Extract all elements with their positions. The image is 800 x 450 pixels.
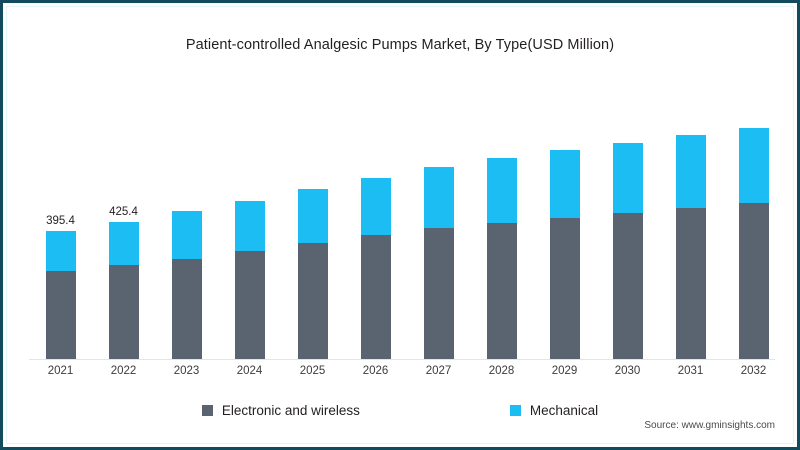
chart-title: Patient-controlled Analgesic Pumps Marke… bbox=[7, 37, 793, 53]
bar-segment-electronic-and-wireless[interactable] bbox=[487, 223, 517, 359]
source-attribution: Source: www.gminsights.com bbox=[644, 420, 775, 431]
bar-group[interactable] bbox=[596, 107, 659, 359]
legend-item[interactable]: Electronic and wireless bbox=[202, 403, 360, 418]
bar-segment-mechanical[interactable] bbox=[46, 231, 76, 271]
chart-canvas: Patient-controlled Analgesic Pumps Marke… bbox=[6, 6, 794, 444]
x-tick-label-2024: 2024 bbox=[218, 365, 281, 377]
bar-segment-mechanical[interactable] bbox=[613, 143, 643, 213]
bar-segment-mechanical[interactable] bbox=[487, 158, 517, 223]
legend-item[interactable]: Mechanical bbox=[510, 403, 598, 418]
bar-segment-electronic-and-wireless[interactable] bbox=[739, 203, 769, 359]
stacked-bar[interactable] bbox=[676, 135, 706, 359]
x-tick-label-2021: 2021 bbox=[29, 365, 92, 377]
bar-group[interactable] bbox=[155, 107, 218, 359]
plot-area: 395.4425.4 bbox=[29, 107, 785, 359]
bar-segment-mechanical[interactable] bbox=[739, 128, 769, 203]
stacked-bar[interactable] bbox=[487, 158, 517, 359]
x-tick-label-2026: 2026 bbox=[344, 365, 407, 377]
stacked-bar[interactable] bbox=[424, 167, 454, 359]
bar-value-label: 395.4 bbox=[46, 215, 75, 227]
bar-group[interactable]: 395.4 bbox=[29, 107, 92, 359]
legend-label: Mechanical bbox=[530, 403, 598, 418]
bar-segment-electronic-and-wireless[interactable] bbox=[676, 208, 706, 359]
bar-group[interactable] bbox=[470, 107, 533, 359]
bar-group[interactable] bbox=[722, 107, 785, 359]
stacked-bar[interactable] bbox=[46, 231, 76, 359]
chart-legend: Electronic and wirelessMechanical bbox=[7, 403, 793, 418]
legend-swatch-icon bbox=[510, 405, 521, 416]
bar-segment-electronic-and-wireless[interactable] bbox=[361, 235, 391, 359]
x-tick-label-2027: 2027 bbox=[407, 365, 470, 377]
x-tick-label-2028: 2028 bbox=[470, 365, 533, 377]
bar-segment-mechanical[interactable] bbox=[424, 167, 454, 228]
bar-group[interactable] bbox=[281, 107, 344, 359]
bar-series-container: 395.4425.4 bbox=[29, 107, 785, 359]
x-tick-label-2032: 2032 bbox=[722, 365, 785, 377]
x-tick-label-2025: 2025 bbox=[281, 365, 344, 377]
bar-segment-electronic-and-wireless[interactable] bbox=[298, 243, 328, 359]
stacked-bar[interactable] bbox=[361, 178, 391, 359]
bar-segment-electronic-and-wireless[interactable] bbox=[235, 251, 265, 359]
bar-segment-electronic-and-wireless[interactable] bbox=[613, 213, 643, 359]
bar-segment-electronic-and-wireless[interactable] bbox=[172, 259, 202, 359]
stacked-bar[interactable] bbox=[550, 150, 580, 359]
stacked-bar[interactable] bbox=[613, 143, 643, 359]
bar-group[interactable]: 425.4 bbox=[92, 107, 155, 359]
x-tick-label-2029: 2029 bbox=[533, 365, 596, 377]
chart-image-frame: Patient-controlled Analgesic Pumps Marke… bbox=[0, 0, 800, 450]
bar-group[interactable] bbox=[218, 107, 281, 359]
bar-group[interactable] bbox=[533, 107, 596, 359]
stacked-bar[interactable] bbox=[298, 189, 328, 359]
bar-segment-mechanical[interactable] bbox=[676, 135, 706, 208]
bar-segment-electronic-and-wireless[interactable] bbox=[424, 228, 454, 359]
bar-group[interactable] bbox=[344, 107, 407, 359]
stacked-bar[interactable] bbox=[109, 222, 139, 359]
stacked-bar[interactable] bbox=[739, 128, 769, 359]
x-axis-tick-labels: 2021202220232024202520262027202820292030… bbox=[29, 365, 785, 377]
legend-swatch-icon bbox=[202, 405, 213, 416]
legend-label: Electronic and wireless bbox=[222, 403, 360, 418]
bar-segment-electronic-and-wireless[interactable] bbox=[109, 265, 139, 359]
bar-segment-mechanical[interactable] bbox=[109, 222, 139, 266]
x-tick-label-2030: 2030 bbox=[596, 365, 659, 377]
bar-segment-electronic-and-wireless[interactable] bbox=[550, 218, 580, 359]
bar-value-label: 425.4 bbox=[109, 206, 138, 218]
bar-segment-mechanical[interactable] bbox=[172, 211, 202, 258]
bar-segment-mechanical[interactable] bbox=[235, 201, 265, 251]
bar-segment-mechanical[interactable] bbox=[550, 150, 580, 218]
stacked-bar[interactable] bbox=[235, 201, 265, 359]
x-tick-label-2031: 2031 bbox=[659, 365, 722, 377]
bar-group[interactable] bbox=[407, 107, 470, 359]
bar-segment-electronic-and-wireless[interactable] bbox=[46, 271, 76, 359]
x-tick-label-2022: 2022 bbox=[92, 365, 155, 377]
bar-group[interactable] bbox=[659, 107, 722, 359]
stacked-bar[interactable] bbox=[172, 211, 202, 359]
bar-segment-mechanical[interactable] bbox=[298, 189, 328, 243]
x-axis-line bbox=[29, 359, 775, 360]
bar-segment-mechanical[interactable] bbox=[361, 178, 391, 236]
x-tick-label-2023: 2023 bbox=[155, 365, 218, 377]
